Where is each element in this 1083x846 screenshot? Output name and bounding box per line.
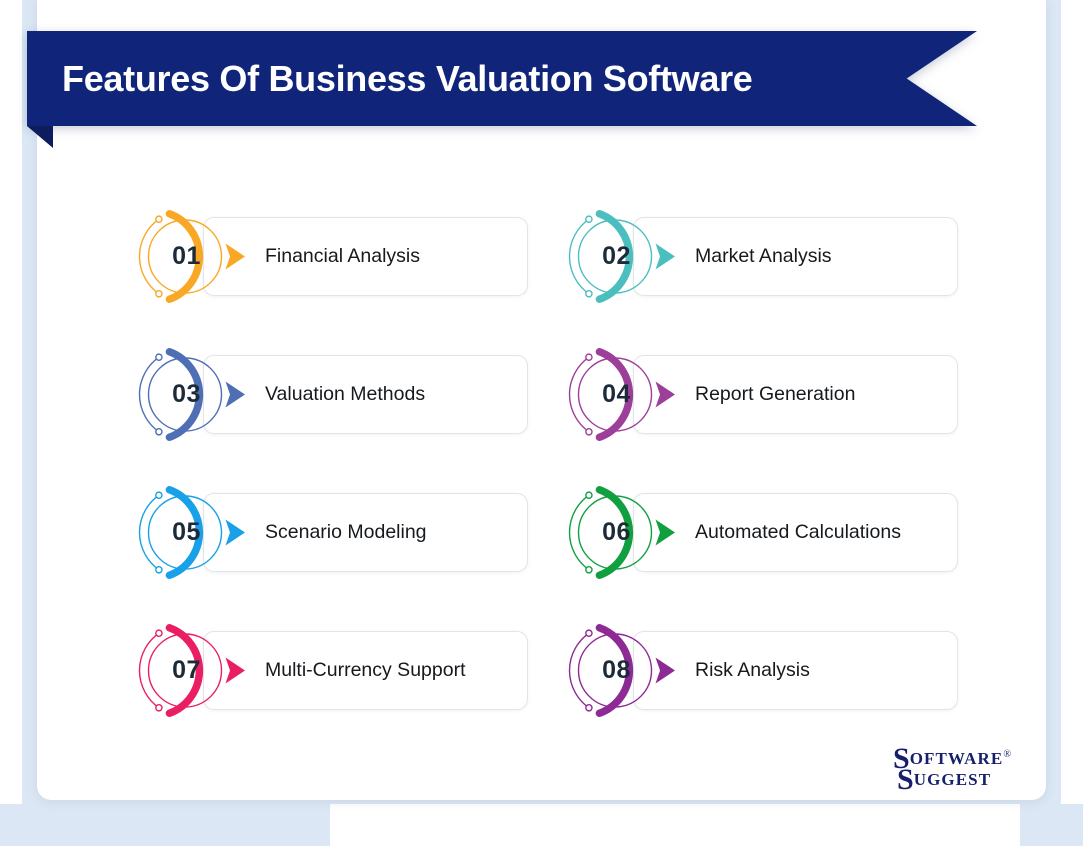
- feature-label-05: Scenario Modeling: [265, 485, 427, 580]
- left-gutter: [0, 0, 22, 804]
- feature-label-08: Risk Analysis: [695, 623, 810, 718]
- feature-item-06[interactable]: 06Automated Calculations: [558, 485, 958, 580]
- feature-item-05[interactable]: 05Scenario Modeling: [128, 485, 528, 580]
- bottom-notch-right: [1020, 804, 1083, 846]
- feature-item-01[interactable]: 01Financial Analysis: [128, 209, 528, 304]
- feature-number-08: 08: [558, 623, 671, 718]
- feature-label-02: Market Analysis: [695, 209, 832, 304]
- logo-text-uggest: UGGEST: [914, 770, 991, 789]
- bottom-notch-left: [0, 804, 330, 846]
- feature-label-01: Financial Analysis: [265, 209, 420, 304]
- feature-number-06: 06: [558, 485, 671, 580]
- right-gutter: [1061, 0, 1083, 804]
- feature-number-02: 02: [558, 209, 671, 304]
- feature-number-01: 01: [128, 209, 241, 304]
- registered-trademark-icon: ®: [1003, 749, 1011, 760]
- feature-item-03[interactable]: 03Valuation Methods: [128, 347, 528, 442]
- feature-number-04: 04: [558, 347, 671, 442]
- feature-number-03: 03: [128, 347, 241, 442]
- feature-label-06: Automated Calculations: [695, 485, 901, 580]
- page-title: Features Of Business Valuation Software: [62, 31, 902, 126]
- feature-number-07: 07: [128, 623, 241, 718]
- feature-label-03: Valuation Methods: [265, 347, 425, 442]
- logo-line-suggest: SUGGEST: [897, 763, 991, 797]
- feature-item-08[interactable]: 08Risk Analysis: [558, 623, 958, 718]
- feature-label-07: Multi-Currency Support: [265, 623, 465, 718]
- logo-cap-s2: S: [897, 763, 914, 796]
- feature-item-02[interactable]: 02Market Analysis: [558, 209, 958, 304]
- feature-number-05: 05: [128, 485, 241, 580]
- feature-item-04[interactable]: 04Report Generation: [558, 347, 958, 442]
- softwaresuggest-logo: SOFTWARE® SUGGEST: [893, 742, 1033, 798]
- feature-label-04: Report Generation: [695, 347, 855, 442]
- feature-item-07[interactable]: 07Multi-Currency Support: [128, 623, 528, 718]
